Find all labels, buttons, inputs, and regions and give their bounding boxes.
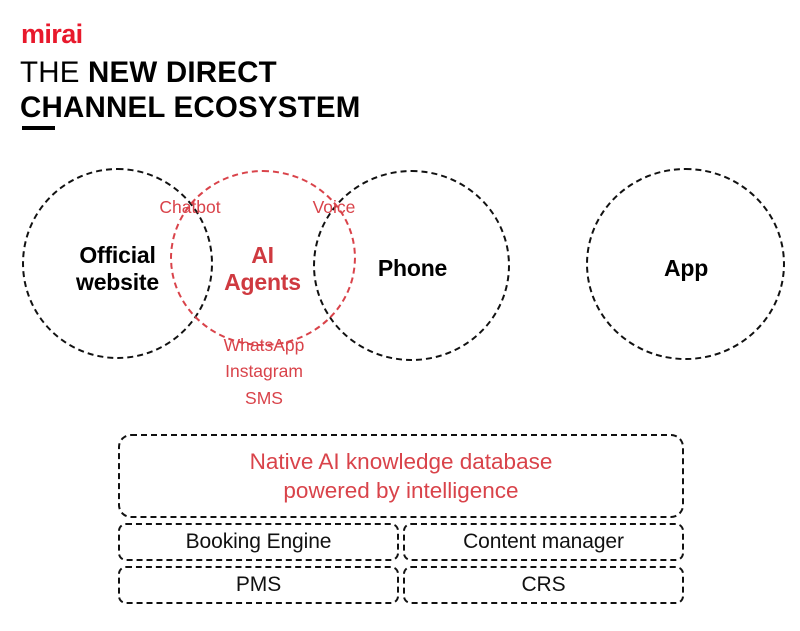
box-knowledge-database: Native AI knowledge database powered by … [118, 434, 684, 518]
page-title: THE NEW DIRECT CHANNEL ECOSYSTEM [20, 56, 540, 125]
foundation-row-1: Booking Engine Content manager [118, 523, 684, 561]
label-phone: Phone [320, 255, 505, 282]
label-ai-agents-line1: AI [251, 242, 274, 268]
title-light-part: THE [20, 56, 88, 89]
label-app: App [596, 255, 776, 282]
label-ai-agents-line2: Agents [224, 269, 301, 295]
label-messaging-channels: WhatsApp Instagram SMS [193, 332, 335, 411]
label-voice: Voice [295, 194, 373, 220]
knowledge-database-line2: powered by intelligence [283, 478, 518, 503]
foundation-stack: Native AI knowledge database powered by … [118, 434, 684, 604]
label-whatsapp: WhatsApp [224, 335, 305, 355]
title-bold-line1: NEW DIRECT [88, 56, 277, 89]
foundation-row-2: PMS CRS [118, 566, 684, 604]
label-sms: SMS [245, 388, 283, 408]
infographic-canvas: mirai THE NEW DIRECT CHANNEL ECOSYSTEM O… [0, 0, 800, 631]
title-bold-line2: CHANNEL ECOSYSTEM [20, 91, 361, 124]
mirai-logo: mirai [21, 21, 83, 48]
box-content-manager: Content manager [403, 523, 684, 561]
box-crs: CRS [403, 566, 684, 604]
label-official-website: Official website [30, 242, 205, 296]
label-chatbot: Chatbot [140, 194, 240, 220]
box-booking-engine: Booking Engine [118, 523, 399, 561]
label-ai-agents: AI Agents [190, 242, 335, 296]
label-official-website-line1: Official [79, 242, 155, 268]
box-pms: PMS [118, 566, 399, 604]
title-underline-rule [22, 126, 55, 130]
venn-diagram: Official website AI Agents Phone App Cha… [0, 150, 800, 420]
knowledge-database-line1: Native AI knowledge database [250, 449, 553, 474]
label-official-website-line2: website [76, 269, 159, 295]
label-instagram: Instagram [225, 361, 303, 381]
